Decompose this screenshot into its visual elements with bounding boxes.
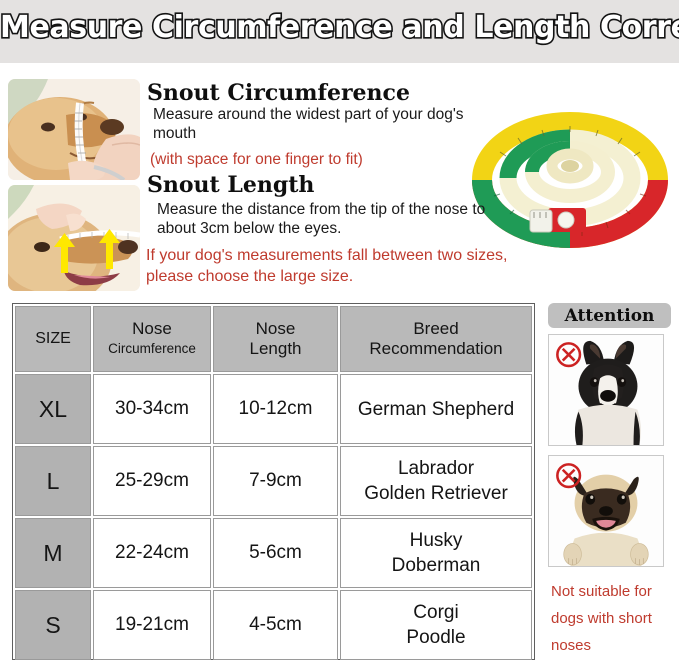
header-nose-length-line1: Nose <box>256 319 296 338</box>
pug-photo <box>548 455 664 567</box>
french-bulldog-photo <box>548 334 664 446</box>
row-breed-line1: German Shepherd <box>358 397 514 422</box>
row-length: 7-9cm <box>213 446 338 516</box>
row-breed-line1: Corgi <box>406 600 465 625</box>
snout-length-photo <box>8 185 140 291</box>
snout-length-heading: Snout Length <box>147 172 314 198</box>
page-title: Measure Circumference and Length Correct… <box>0 10 679 45</box>
row-circumference: 30-34cm <box>93 374 211 444</box>
row-breed-line2: Golden Retriever <box>364 481 508 506</box>
snout-length-body: Measure the distance from the tip of the… <box>157 200 487 238</box>
row-breed: Husky Doberman <box>340 518 532 588</box>
row-breed: Labrador Golden Retriever <box>340 446 532 516</box>
row-breed: Corgi Poodle <box>340 590 532 660</box>
attention-banner: Attention <box>548 303 671 328</box>
row-size: XL <box>15 374 91 444</box>
header-breed-line2: Recommendation <box>369 339 502 358</box>
row-length: 4-5cm <box>213 590 338 660</box>
row-breed-line1: Labrador <box>364 456 508 481</box>
attention-warning-text: Not suitable for dogs with short noses <box>551 578 675 659</box>
row-circumference: 19-21cm <box>93 590 211 660</box>
row-size: S <box>15 590 91 660</box>
row-circumference: 22-24cm <box>93 518 211 588</box>
header-breed-recommendation: Breed Recommendation <box>340 306 532 372</box>
row-breed-line2: Doberman <box>392 553 481 578</box>
header-nose-length: Nose Length <box>213 306 338 372</box>
table-row: S 19-21cm 4-5cm Corgi Poodle <box>15 590 532 660</box>
header-size: SIZE <box>15 306 91 372</box>
header-breed-line1: Breed <box>413 319 458 338</box>
table-row: L 25-29cm 7-9cm Labrador Golden Retrieve… <box>15 446 532 516</box>
row-length: 10-12cm <box>213 374 338 444</box>
header-nose-length-line2: Length <box>250 339 302 358</box>
finger-space-note: (with space for one finger to fit) <box>150 150 490 169</box>
header-nose-circumference-line2: Circumference <box>108 339 196 359</box>
row-size: M <box>15 518 91 588</box>
header-nose-circumference: Nose Circumference <box>93 306 211 372</box>
table-row: XL 30-34cm 10-12cm German Shepherd <box>15 374 532 444</box>
snout-circumference-photo <box>8 79 140 180</box>
row-breed: German Shepherd <box>340 374 532 444</box>
table-row: M 22-24cm 5-6cm Husky Doberman <box>15 518 532 588</box>
snout-circumference-body: Measure around the widest part of your d… <box>153 105 483 143</box>
snout-circumference-heading: Snout Circumference <box>147 80 410 106</box>
size-advice-note: If your dog's measurements fall between … <box>146 245 546 287</box>
row-size: L <box>15 446 91 516</box>
row-breed-line2: Poodle <box>406 625 465 650</box>
header-nose-circumference-line1: Nose <box>132 319 172 338</box>
row-breed-line1: Husky <box>392 528 481 553</box>
table-header-row: SIZE Nose Circumference Nose Length Bree… <box>15 306 532 372</box>
size-chart-table: SIZE Nose Circumference Nose Length Bree… <box>12 303 535 660</box>
row-length: 5-6cm <box>213 518 338 588</box>
row-circumference: 25-29cm <box>93 446 211 516</box>
